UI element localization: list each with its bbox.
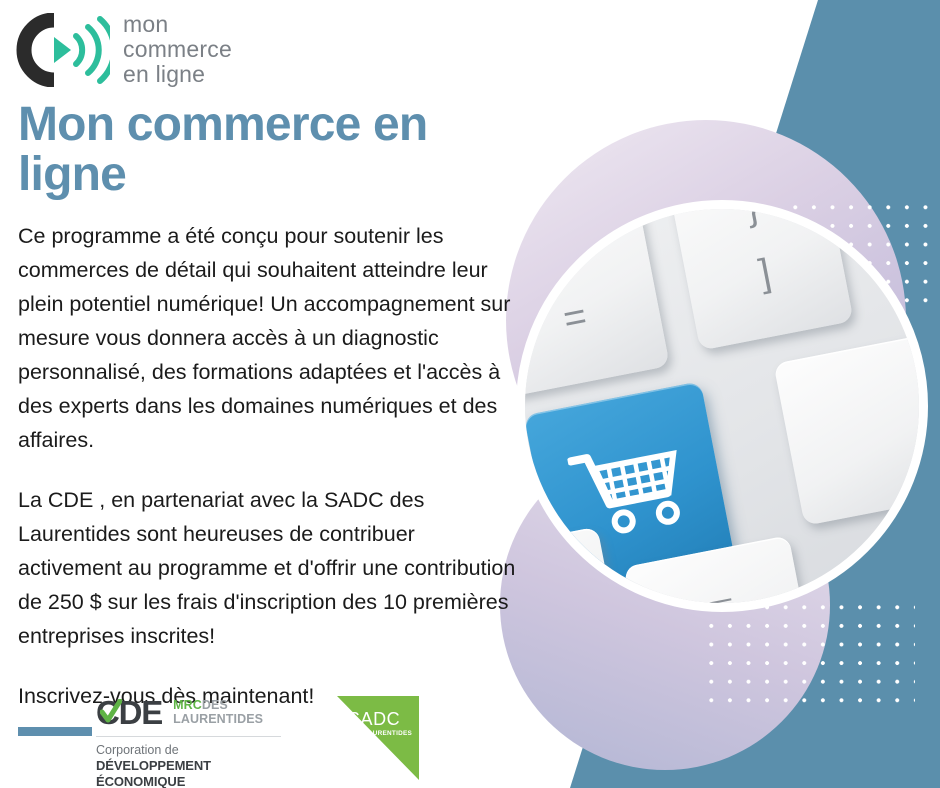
mrc-line1: MRCDES [173, 699, 263, 713]
cde-logo: CDE MRCDES LAURENTIDES Corporation de DÉ… [96, 696, 281, 788]
shopping-cart-icon [566, 430, 693, 542]
c-signal-waves-icon [14, 13, 110, 87]
partner-logos: CDE MRCDES LAURENTIDES Corporation de DÉ… [96, 696, 419, 788]
brand-word-line3: en ligne [123, 62, 232, 87]
cde-divider-top [96, 736, 281, 737]
cde-subtitle-line1: Corporation de [96, 743, 281, 758]
sadc-logo-text: SADC DES LAURENTIDES [348, 710, 412, 738]
content-column: Mon commerce en ligne Ce programme a été… [18, 100, 518, 736]
promotional-poster: — – += }] P A —– [0, 0, 940, 788]
sadc-logo: SADC DES LAURENTIDES [337, 696, 419, 780]
key-plus-equals: += [516, 200, 670, 398]
paragraph-partnership-offer: La CDE , en partenariat avec la SADC des… [18, 483, 518, 653]
brand-logo-text: mon commerce en ligne [123, 12, 232, 87]
brand-logo: mon commerce en ligne [14, 12, 232, 87]
page-title: Mon commerce en ligne [18, 100, 518, 201]
divider-bar [18, 727, 92, 736]
brand-word-line2: commerce [123, 37, 232, 62]
cde-subtitle-line2: DÉVELOPPEMENT ÉCONOMIQUE [96, 758, 281, 788]
sadc-region: DES LAURENTIDES [348, 729, 412, 738]
laurentides-label: LAURENTIDES [173, 713, 263, 727]
mrc-laurentides-block: MRCDES LAURENTIDES [173, 699, 263, 726]
mrc-label: MRC [173, 698, 202, 712]
cde-logo-top: CDE MRCDES LAURENTIDES [96, 696, 281, 729]
paragraph-program-description: Ce programme a été conçu pour soutenir l… [18, 219, 518, 457]
brand-word-line1: mon [123, 12, 232, 37]
keyboard-surface: — – += }] P A —– [516, 200, 928, 612]
cde-letters: CDE [96, 696, 162, 729]
green-checkmark-icon [100, 699, 122, 725]
sadc-name: SADC [348, 710, 412, 729]
keyboard-photo-circle: — – += }] P A —– [516, 200, 928, 612]
key-blank-right [773, 334, 928, 526]
dot-grid-bottom-right [700, 596, 915, 708]
des-label: DES [202, 698, 228, 712]
key-brace-bracket: }] [663, 200, 853, 351]
